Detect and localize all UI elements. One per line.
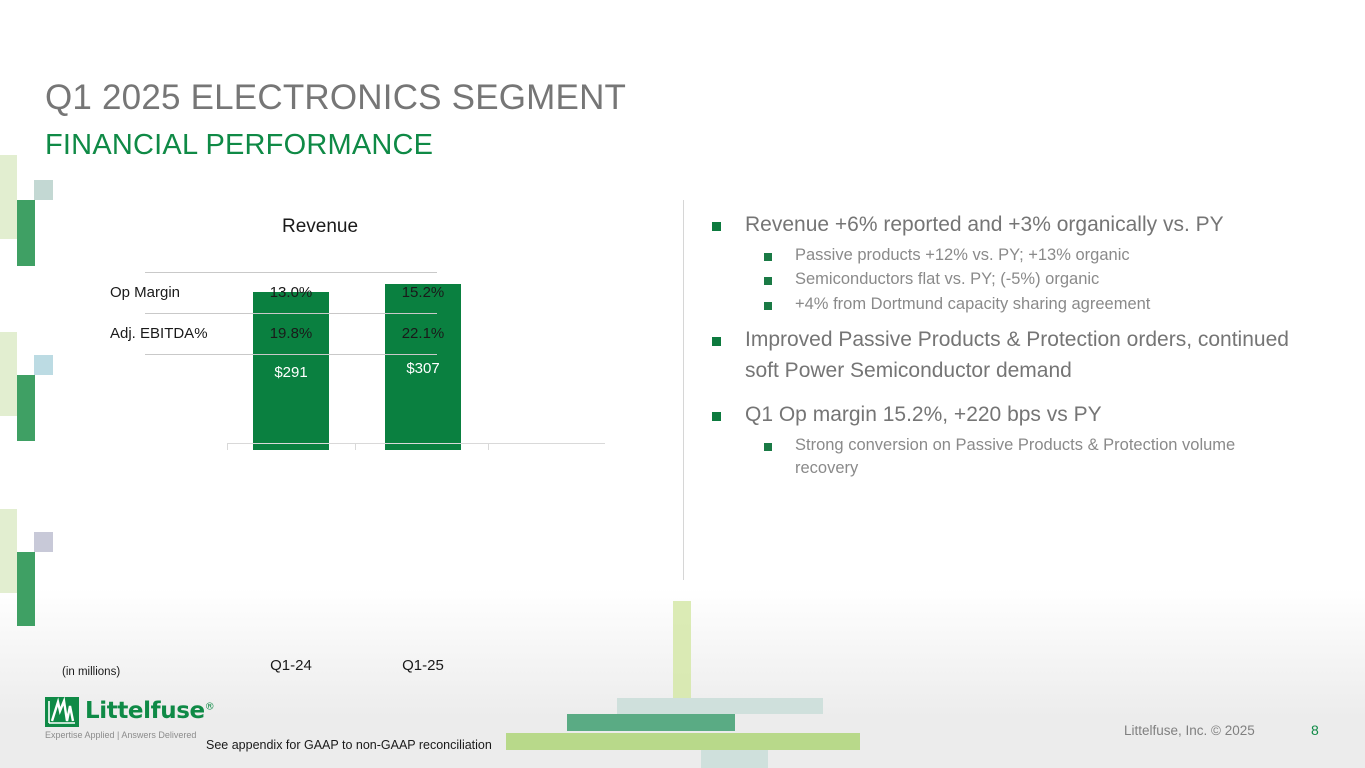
- bullet-square-icon: [712, 412, 721, 421]
- sub-bullet-text: +4% from Dortmund capacity sharing agree…: [795, 295, 1150, 313]
- slide-root: Q1 2025 ELECTRONICS SEGMENT FINANCIAL PE…: [0, 0, 1365, 768]
- table-cell-adj-ebitda-q1-24: 19.8%: [231, 325, 351, 342]
- sub-bullet-square-icon: [764, 443, 772, 451]
- deco-pale-horizontal-bar: [617, 698, 823, 714]
- littelfuse-bolt-icon: [45, 697, 79, 727]
- bullet-item-orders: Improved Passive Products & Protection o…: [706, 325, 1306, 386]
- bullet-group-1: Revenue +6% reported and +3% organically…: [706, 210, 1306, 316]
- bullet-item-revenue: Revenue +6% reported and +3% organically…: [706, 210, 1306, 241]
- bullet-text: Q1 Op margin 15.2%, +220 bps vs PY: [745, 403, 1102, 426]
- table-rule-top: [145, 272, 437, 273]
- bar-label-q1-24: $291: [253, 364, 329, 381]
- registered-trademark-icon: ®: [205, 701, 215, 712]
- table-cell-adj-ebitda-q1-25: 22.1%: [363, 325, 483, 342]
- page-title: Q1 2025 ELECTRONICS SEGMENT: [45, 78, 626, 118]
- sub-bullet-strong-conversion: Strong conversion on Passive Products & …: [706, 434, 1306, 481]
- bullet-group-3: Q1 Op margin 15.2%, +220 bps vs PY Stron…: [706, 400, 1306, 481]
- page-subtitle: FINANCIAL PERFORMANCE: [45, 129, 433, 162]
- bullet-item-op-margin: Q1 Op margin 15.2%, +220 bps vs PY: [706, 400, 1306, 431]
- table-row-adj-ebitda: Adj. EBITDA% 19.8% 22.1%: [35, 313, 437, 354]
- logo-word-text: Littelfuse: [85, 698, 205, 724]
- axis-tick-mid: [355, 443, 356, 450]
- table-cell-op-margin-q1-25: 15.2%: [363, 284, 483, 301]
- sub-bullet-text: Semiconductors flat vs. PY; (-5%) organi…: [795, 270, 1099, 288]
- deco-lilac-square-3: [34, 532, 53, 552]
- deco-pale-bottom-stub: [701, 750, 768, 768]
- chart-units-note: (in millions): [62, 666, 120, 678]
- sub-bullet-dortmund: +4% from Dortmund capacity sharing agree…: [706, 293, 1306, 317]
- table-rule-middle: [145, 313, 437, 314]
- appendix-note: See appendix for GAAP to non-GAAP reconc…: [206, 738, 492, 752]
- bullet-text: Revenue +6% reported and +3% organically…: [745, 213, 1224, 236]
- content-divider: [683, 200, 684, 580]
- littelfuse-tagline: Expertise Applied | Answers Delivered: [45, 730, 196, 740]
- deco-green-bar-1: [17, 200, 35, 266]
- deco-blue-square-2: [34, 355, 53, 375]
- table-rule-bottom: [145, 354, 437, 355]
- chart-category-q1-24: Q1-24: [231, 657, 351, 674]
- table-row-op-margin: Op Margin 13.0% 15.2%: [35, 272, 437, 313]
- chart-title: Revenue: [110, 216, 530, 238]
- sub-bullet-semiconductors: Semiconductors flat vs. PY; (-5%) organi…: [706, 268, 1306, 292]
- table-row-footer: [35, 354, 437, 355]
- copyright-text: Littelfuse, Inc. © 2025: [1124, 723, 1255, 738]
- bullet-text: Improved Passive Products & Protection o…: [745, 328, 1289, 382]
- bullet-square-icon: [712, 222, 721, 231]
- sub-bullet-text: Passive products +12% vs. PY; +13% organ…: [795, 246, 1130, 264]
- sub-bullet-passive-products: Passive products +12% vs. PY; +13% organ…: [706, 244, 1306, 268]
- bullet-list: Revenue +6% reported and +3% organically…: [706, 210, 1306, 495]
- revenue-chart: Revenue $291 $307 Q1-24 Q1-25: [110, 205, 530, 575]
- bar-label-q1-25: $307: [385, 360, 461, 377]
- page-number: 8: [1311, 722, 1319, 738]
- deco-green-horizontal-bar: [506, 733, 860, 750]
- deco-green-bar-3: [17, 552, 35, 626]
- table-row-label-adj-ebitda: Adj. EBITDA%: [110, 325, 208, 342]
- table-row-label-op-margin: Op Margin: [110, 284, 180, 301]
- deco-teal-square-1: [34, 180, 53, 200]
- bullet-group-2: Improved Passive Products & Protection o…: [706, 325, 1306, 386]
- bullet-square-icon: [712, 337, 721, 346]
- deco-green-bar-2: [17, 375, 35, 441]
- sub-bullet-square-icon: [764, 277, 772, 285]
- sub-bullet-square-icon: [764, 253, 772, 261]
- deco-pale-green-block-2: [0, 332, 17, 416]
- deco-teal-horizontal-bar: [567, 714, 735, 731]
- sub-bullet-text: Strong conversion on Passive Products & …: [795, 436, 1235, 478]
- axis-tick-left: [227, 443, 228, 450]
- littelfuse-wordmark: Littelfuse®: [85, 698, 214, 724]
- table-cell-op-margin-q1-24: 13.0%: [231, 284, 351, 301]
- chart-category-q1-25: Q1-25: [363, 657, 483, 674]
- sub-bullet-square-icon: [764, 302, 772, 310]
- chart-axis-line: [227, 443, 605, 444]
- deco-pale-green-block-3: [0, 509, 17, 593]
- axis-tick-right: [488, 443, 489, 450]
- metrics-table: Op Margin 13.0% 15.2% Adj. EBITDA% 19.8%…: [35, 272, 437, 355]
- deco-pale-green-block-1: [0, 155, 17, 239]
